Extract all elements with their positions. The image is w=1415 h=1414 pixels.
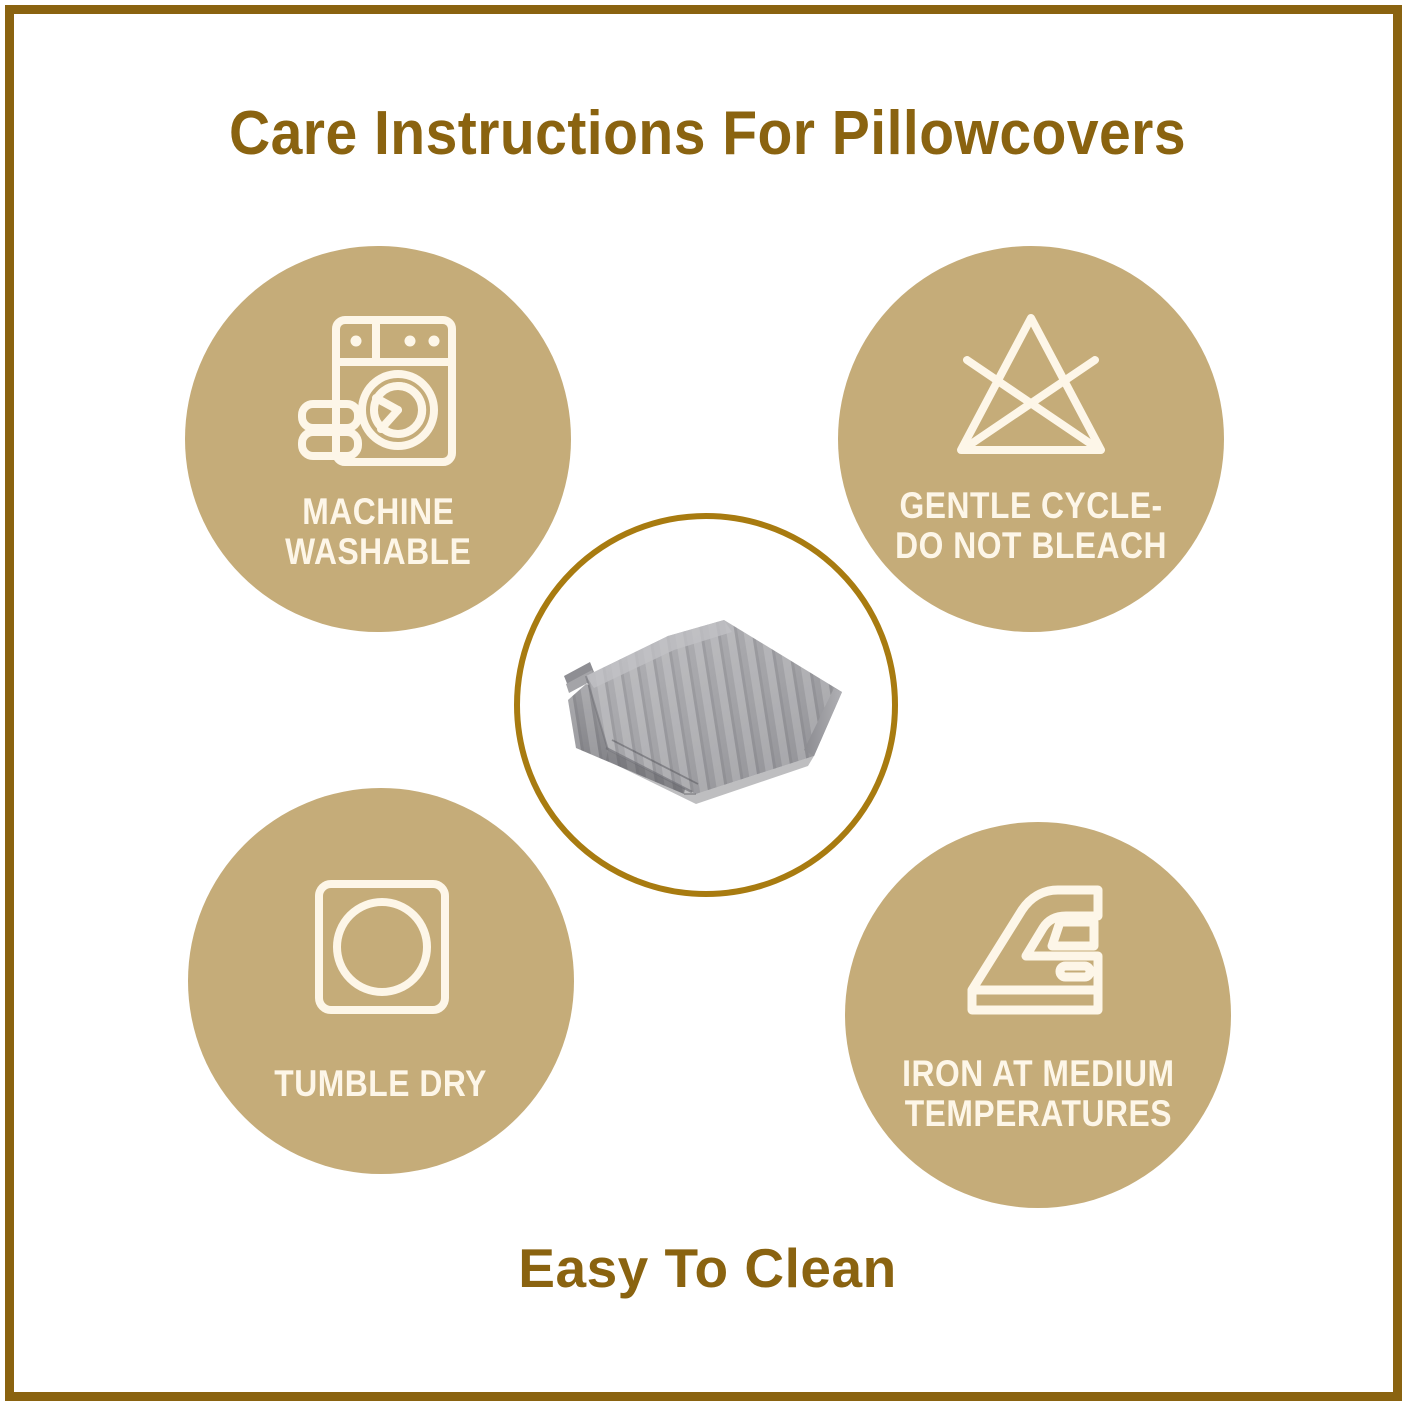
badge-label: MACHINE WASHABLE [285, 492, 471, 571]
badge-gentle-cycle-do-not-bleach[interactable]: GENTLE CYCLE- DO NOT BLEACH [838, 246, 1224, 632]
do-not-bleach-triangle-icon [941, 302, 1121, 472]
badge-machine-washable[interactable]: MACHINE WASHABLE [185, 246, 571, 632]
badge-label: IRON AT MEDIUM TEMPERATURES [902, 1054, 1174, 1133]
page-title: Care Instructions For Pillowcovers [57, 98, 1359, 169]
product-medallion [514, 513, 898, 897]
care-instructions-poster: Care Instructions For Pillowcovers [0, 0, 1415, 1414]
tumble-dry-icon [291, 866, 471, 1036]
badge-tumble-dry[interactable]: TUMBLE DRY [188, 788, 574, 1174]
folded-pillowcovers-photo [546, 580, 866, 830]
badge-label: GENTLE CYCLE- DO NOT BLEACH [895, 486, 1167, 565]
iron-icon [948, 870, 1128, 1040]
page-caption: Easy To Clean [0, 1236, 1415, 1300]
badge-iron-medium[interactable]: IRON AT MEDIUM TEMPERATURES [845, 822, 1231, 1208]
badge-label: TUMBLE DRY [275, 1064, 488, 1104]
washing-machine-icon [288, 308, 468, 478]
